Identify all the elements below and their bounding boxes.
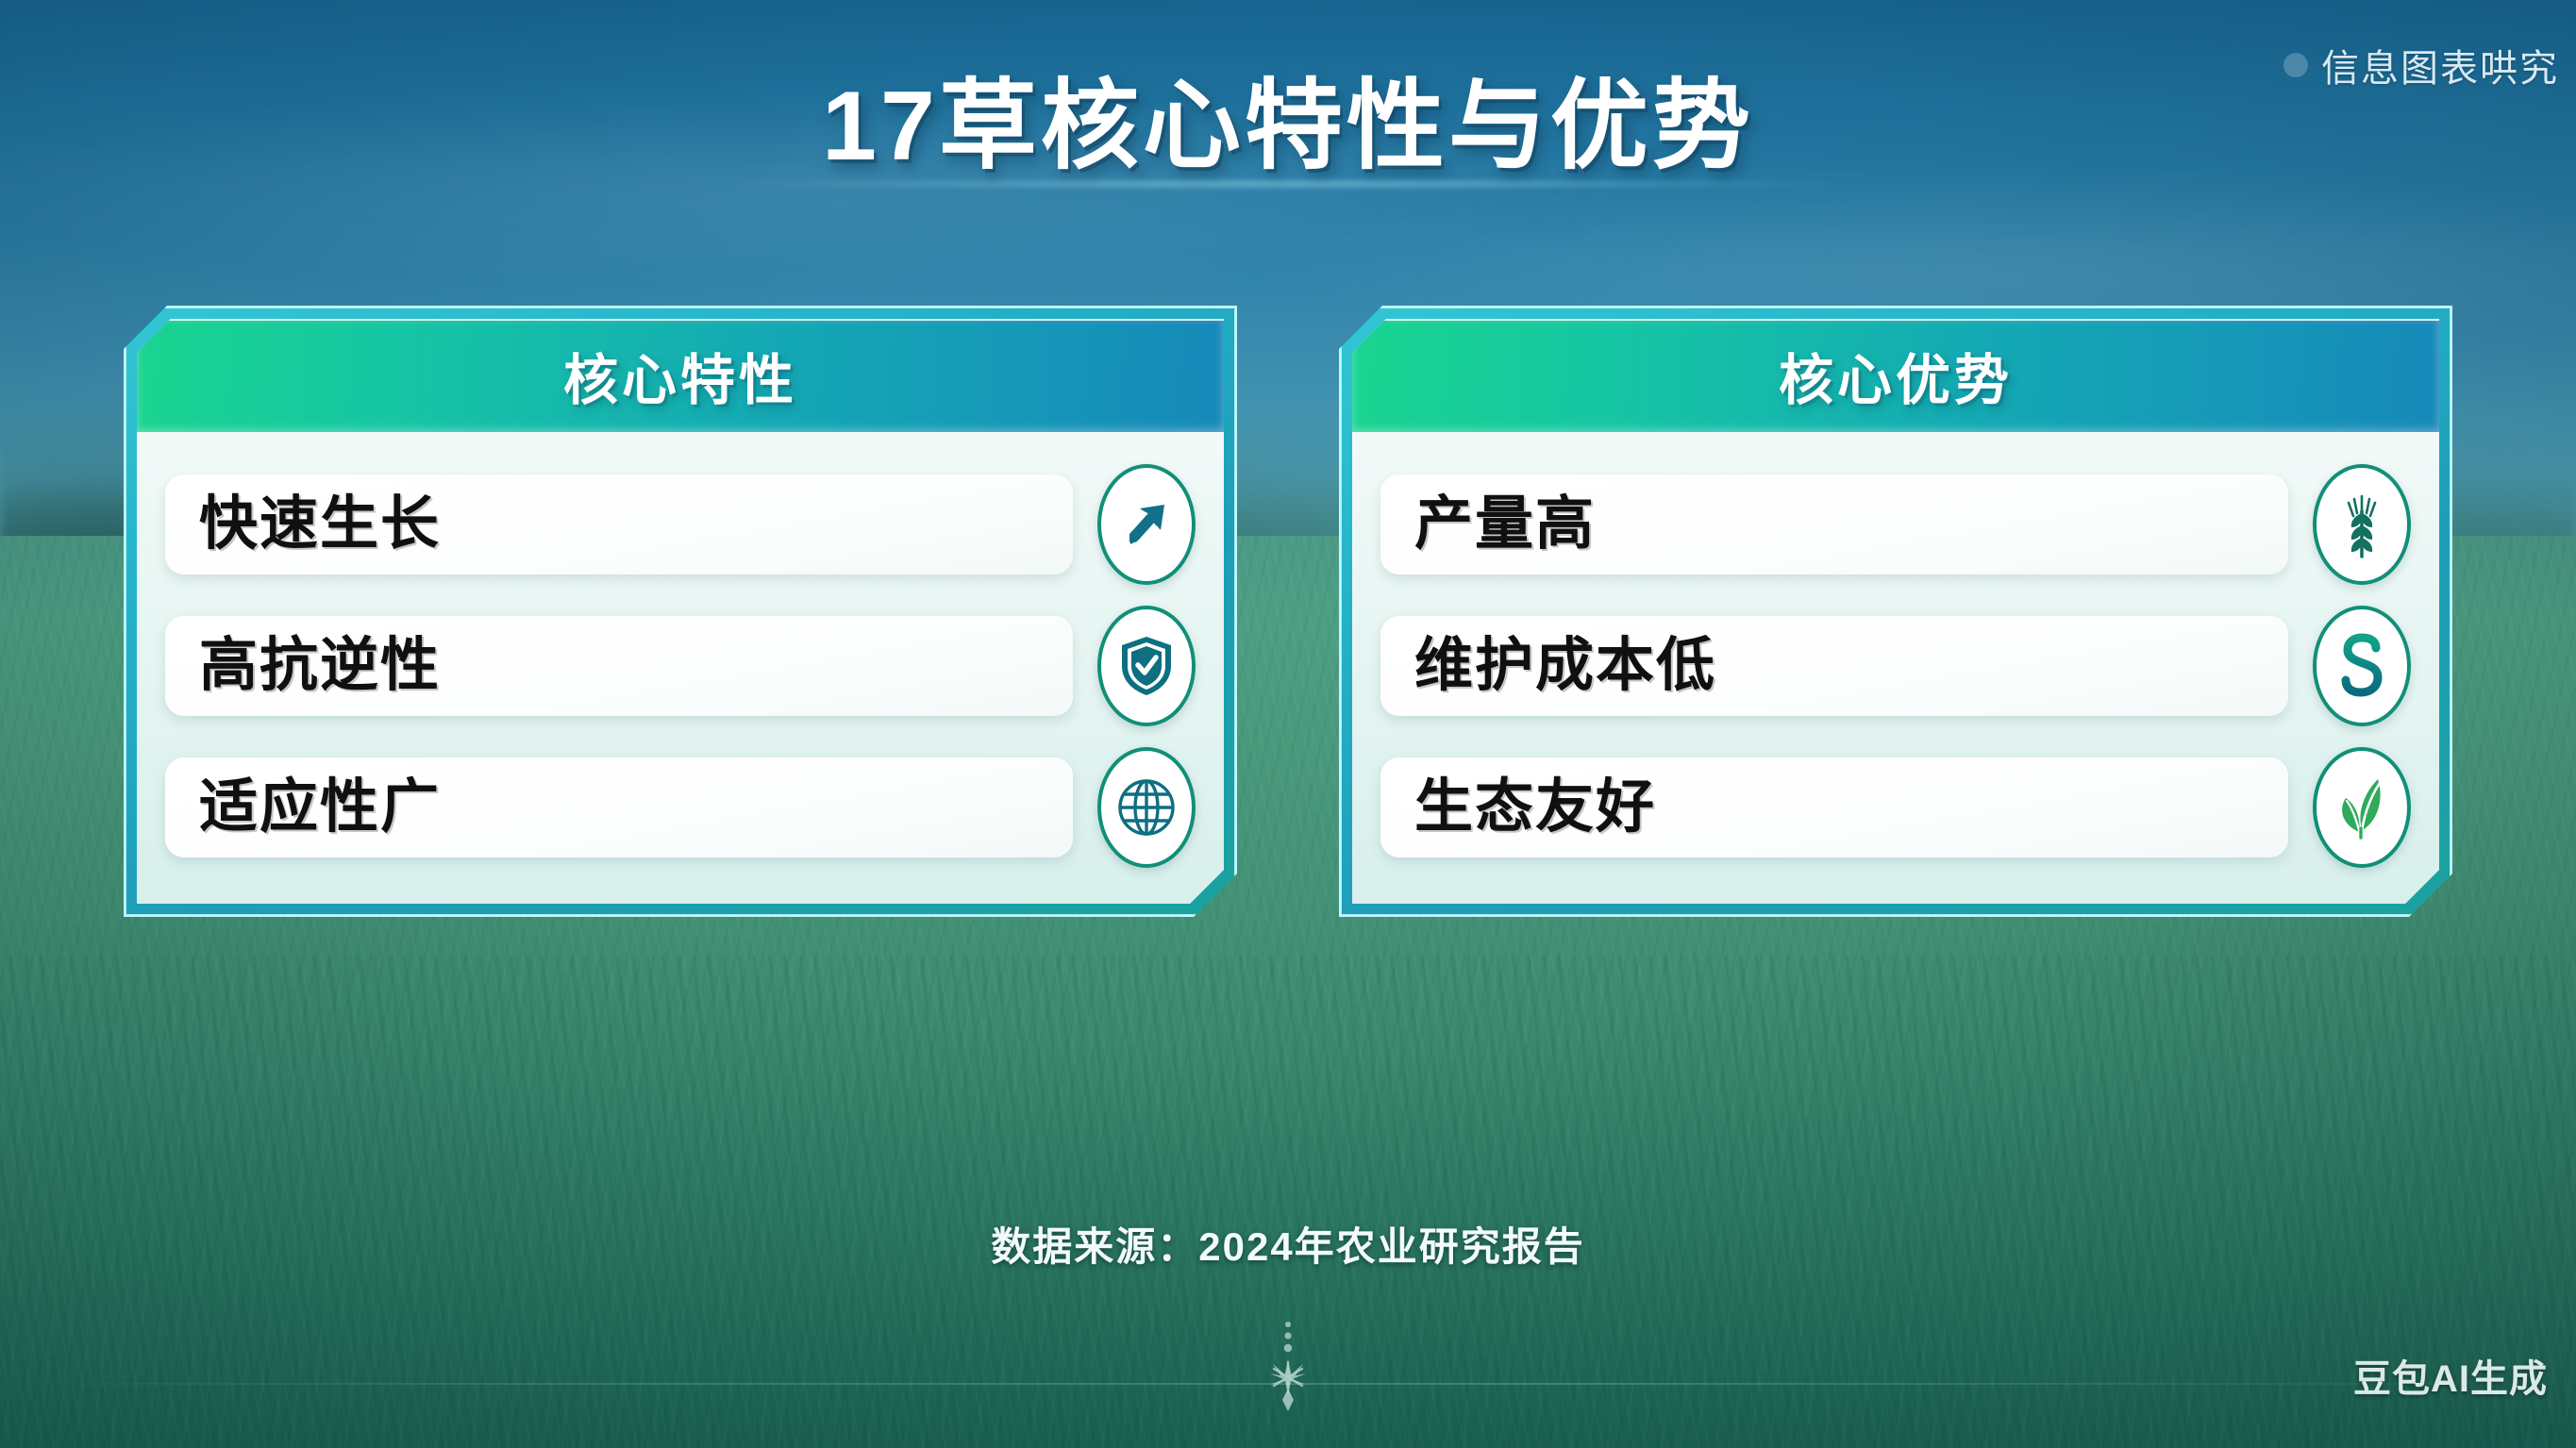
list-item[interactable]: 快速生长	[165, 464, 1196, 585]
panel-header: 核心特性	[137, 319, 1224, 432]
arrow-up-right-icon	[1097, 464, 1196, 585]
list-item[interactable]: 产量高	[1380, 464, 2411, 585]
watermark-bottom-right: 豆包AI生成	[2353, 1348, 2548, 1403]
list-item[interactable]: 生态友好	[1380, 747, 2411, 868]
panel-inner: 核心优势 产量高	[1352, 319, 2439, 904]
sparkle-ornament-icon	[1249, 1319, 1327, 1425]
feature-label: 快速生长	[199, 495, 441, 554]
feature-pill[interactable]: 适应性广	[165, 757, 1073, 857]
advantage-label: 维护成本低	[1414, 637, 1716, 695]
advantage-label: 生态友好	[1414, 778, 1656, 837]
watermark-top-right-text: 信息图表哄究	[2321, 38, 2559, 92]
advantage-pill[interactable]: 产量高	[1380, 474, 2288, 574]
watermark-dot-icon	[2283, 53, 2308, 77]
panel-body: 快速生长 高抗逆性	[137, 432, 1224, 904]
data-source-note: 数据来源：2024年农业研究报告	[0, 1215, 2576, 1273]
panel-inner: 核心特性 快速生长	[137, 319, 1224, 904]
list-item[interactable]: 高抗逆性	[165, 606, 1196, 726]
panel-core-features: 核心特性 快速生长	[124, 306, 1237, 917]
advantage-pill[interactable]: 维护成本低	[1380, 616, 2288, 716]
list-item[interactable]: 适应性广	[165, 747, 1196, 868]
panel-header-label: 核心特性	[563, 336, 797, 415]
wheat-icon	[2313, 464, 2411, 585]
advantage-label: 产量高	[1414, 495, 1596, 554]
watermark-top-right: 信息图表哄究	[2283, 38, 2559, 92]
panel-header-label: 核心优势	[1779, 336, 2013, 415]
globe-icon	[1097, 747, 1196, 868]
list-item[interactable]: 维护成本低	[1380, 606, 2411, 726]
feature-label: 适应性广	[199, 778, 441, 837]
shield-check-icon	[1097, 606, 1196, 726]
page-title: 17草核心特性与优势	[0, 45, 2576, 188]
feature-label: 高抗逆性	[199, 637, 441, 695]
dollar-sign-icon	[2313, 606, 2411, 726]
panel-container: 核心特性 快速生长	[0, 306, 2576, 917]
advantage-pill[interactable]: 生态友好	[1380, 757, 2288, 857]
feature-pill[interactable]: 高抗逆性	[165, 616, 1073, 716]
feature-pill[interactable]: 快速生长	[165, 474, 1073, 574]
leaf-icon	[2313, 747, 2411, 868]
panel-header: 核心优势	[1352, 319, 2439, 432]
infographic-slide: 信息图表哄究 17草核心特性与优势 核心特性 快速生长	[0, 0, 2576, 1448]
panel-core-advantages: 核心优势 产量高	[1339, 306, 2452, 917]
panel-body: 产量高	[1352, 432, 2439, 904]
